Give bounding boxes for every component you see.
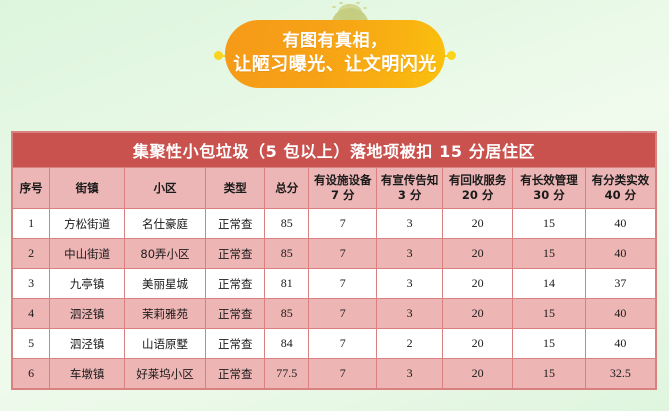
banner-line-1: 有图有真相， xyxy=(283,30,388,53)
cell-type: 正常查 xyxy=(206,239,265,269)
cell-total: 85 xyxy=(265,239,309,269)
cell-type: 正常查 xyxy=(206,209,265,239)
col-header-total: 总分 xyxy=(265,168,309,209)
cell-management: 15 xyxy=(513,359,585,389)
cell-management: 15 xyxy=(513,299,585,329)
cell-index: 2 xyxy=(13,239,50,269)
col-header-recycling: 有回收服务 20 分 xyxy=(443,168,513,209)
poster-canvas: 有图有真相， 让陋习曝光、让文明闪光 集聚性小包垃圾（5 包以上）落地项被扣 1… xyxy=(0,0,669,411)
cell-publicity: 3 xyxy=(377,299,443,329)
data-table: 集聚性小包垃圾（5 包以上）落地项被扣 15 分居住区 序号 街镇 小区 类型 … xyxy=(12,132,656,389)
cell-town: 方松街道 xyxy=(50,209,125,239)
cell-effectiveness: 32.5 xyxy=(585,359,655,389)
cell-total: 81 xyxy=(265,269,309,299)
col-header-type: 类型 xyxy=(206,168,265,209)
cell-community: 山语原墅 xyxy=(124,329,205,359)
cell-publicity: 3 xyxy=(377,359,443,389)
cell-facilities: 7 xyxy=(309,239,377,269)
cell-effectiveness: 37 xyxy=(585,269,655,299)
table-title: 集聚性小包垃圾（5 包以上）落地项被扣 15 分居住区 xyxy=(13,133,656,168)
data-table-card: 集聚性小包垃圾（5 包以上）落地项被扣 15 分居住区 序号 街镇 小区 类型 … xyxy=(11,131,657,390)
cell-index: 3 xyxy=(13,269,50,299)
col-header-effectiveness: 有分类实效40 分 xyxy=(585,168,655,209)
cell-management: 15 xyxy=(513,329,585,359)
cell-recycling: 20 xyxy=(443,209,513,239)
cell-town: 泗泾镇 xyxy=(50,329,125,359)
cell-effectiveness: 40 xyxy=(585,299,655,329)
cell-index: 6 xyxy=(13,359,50,389)
cell-index: 4 xyxy=(13,299,50,329)
table-row: 1 方松街道 名仕豪庭 正常查 85 7 3 20 15 40 xyxy=(13,209,656,239)
headline-banner: 有图有真相， 让陋习曝光、让文明闪光 xyxy=(214,20,456,90)
cell-publicity: 3 xyxy=(377,239,443,269)
table-body: 1 方松街道 名仕豪庭 正常查 85 7 3 20 15 40 2 中山街道 8… xyxy=(13,209,656,389)
col-header-community: 小区 xyxy=(124,168,205,209)
cell-index: 1 xyxy=(13,209,50,239)
leaf-icon xyxy=(332,6,336,8)
cell-type: 正常查 xyxy=(206,269,265,299)
cell-facilities: 7 xyxy=(309,359,377,389)
cell-community: 名仕豪庭 xyxy=(124,209,205,239)
cell-facilities: 7 xyxy=(309,269,377,299)
cell-total: 84 xyxy=(265,329,309,359)
cell-type: 正常查 xyxy=(206,359,265,389)
table-header-row: 序号 街镇 小区 类型 总分 有设施设备 7 分 有宣传告知 3 分 有回收服务… xyxy=(13,168,656,209)
cell-management: 15 xyxy=(513,239,585,269)
cell-community: 美丽星城 xyxy=(124,269,205,299)
cell-management: 14 xyxy=(513,269,585,299)
table-row: 4 泗泾镇 茉莉雅苑 正常查 85 7 3 20 15 40 xyxy=(13,299,656,329)
col-header-management: 有长效管理30 分 xyxy=(513,168,585,209)
table-row: 5 泗泾镇 山语原墅 正常查 84 7 2 20 15 40 xyxy=(13,329,656,359)
cell-town: 九亭镇 xyxy=(50,269,125,299)
cell-town: 中山街道 xyxy=(50,239,125,269)
cell-publicity: 3 xyxy=(377,269,443,299)
table-title-row: 集聚性小包垃圾（5 包以上）落地项被扣 15 分居住区 xyxy=(13,133,656,168)
cell-recycling: 20 xyxy=(443,359,513,389)
banner-pill: 有图有真相， 让陋习曝光、让文明闪光 xyxy=(225,20,445,88)
table-row: 2 中山街道 80弄小区 正常查 85 7 3 20 15 40 xyxy=(13,239,656,269)
cell-facilities: 7 xyxy=(309,299,377,329)
cell-community: 好莱坞小区 xyxy=(124,359,205,389)
cell-recycling: 20 xyxy=(443,299,513,329)
cell-recycling: 20 xyxy=(443,329,513,359)
leaf-icon xyxy=(363,7,367,9)
table-row: 6 车墩镇 好莱坞小区 正常查 77.5 7 3 20 15 32.5 xyxy=(13,359,656,389)
cell-effectiveness: 40 xyxy=(585,239,655,269)
cell-total: 85 xyxy=(265,299,309,329)
leaf-icon xyxy=(356,2,360,4)
banner-line-2: 让陋习曝光、让文明闪光 xyxy=(233,53,437,76)
cell-total: 85 xyxy=(265,209,309,239)
cell-recycling: 20 xyxy=(443,239,513,269)
col-header-publicity: 有宣传告知 3 分 xyxy=(377,168,443,209)
col-header-town: 街镇 xyxy=(50,168,125,209)
cell-town: 泗泾镇 xyxy=(50,299,125,329)
cell-community: 80弄小区 xyxy=(124,239,205,269)
cell-publicity: 2 xyxy=(377,329,443,359)
col-header-index: 序号 xyxy=(13,168,50,209)
cell-effectiveness: 40 xyxy=(585,209,655,239)
cell-effectiveness: 40 xyxy=(585,329,655,359)
cell-total: 77.5 xyxy=(265,359,309,389)
cell-recycling: 20 xyxy=(443,269,513,299)
leaf-icon xyxy=(339,2,343,4)
cell-facilities: 7 xyxy=(309,209,377,239)
cell-management: 15 xyxy=(513,209,585,239)
cell-community: 茉莉雅苑 xyxy=(124,299,205,329)
cell-index: 5 xyxy=(13,329,50,359)
cell-publicity: 3 xyxy=(377,209,443,239)
cell-type: 正常查 xyxy=(206,329,265,359)
table-row: 3 九亭镇 美丽星城 正常查 81 7 3 20 14 37 xyxy=(13,269,656,299)
cell-facilities: 7 xyxy=(309,329,377,359)
col-header-facilities: 有设施设备 7 分 xyxy=(309,168,377,209)
cell-town: 车墩镇 xyxy=(50,359,125,389)
cell-type: 正常查 xyxy=(206,299,265,329)
